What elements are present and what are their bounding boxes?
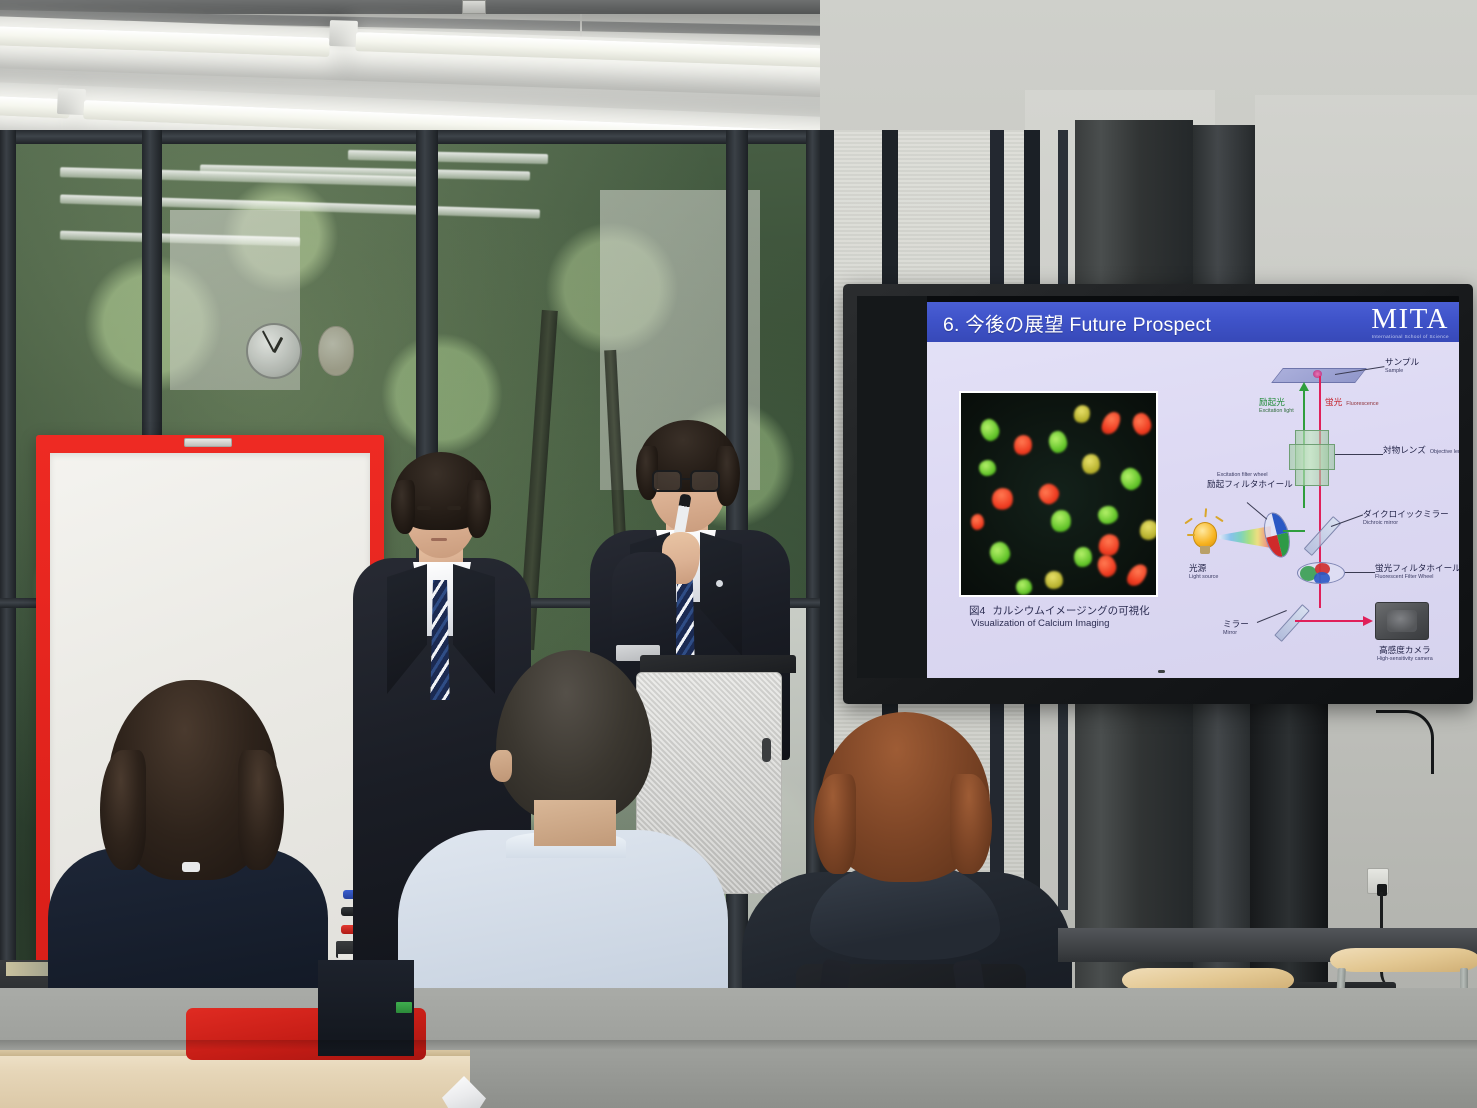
leader-mirror bbox=[1257, 610, 1287, 623]
audience-center-hair bbox=[496, 650, 652, 822]
presenter-right-glasses-right-lens bbox=[690, 470, 720, 492]
label-sample-jp: サンプル bbox=[1385, 358, 1419, 368]
micrograph-cell bbox=[1035, 480, 1062, 507]
mita-logo-wordmark: MITA bbox=[1371, 303, 1449, 335]
tube-mount-2 bbox=[57, 88, 86, 115]
micrograph-cell bbox=[1097, 505, 1118, 525]
micrograph-cell bbox=[1044, 570, 1064, 590]
display-screen: 6. 今後の展望 Future Prospect MITA Internatio… bbox=[857, 296, 1459, 678]
label-excitation-filter-wheel-en: Excitation filter wheel bbox=[1217, 472, 1293, 478]
micrograph-cell bbox=[977, 417, 1001, 444]
label-fluorescence-en: Fluorescence bbox=[1346, 401, 1378, 407]
label-dichroic-mirror: ダイクロイックミラー Dichroic mirror bbox=[1363, 510, 1449, 526]
mita-logo: MITA International School of Science bbox=[1371, 305, 1449, 340]
label-mirror: ミラー Mirror bbox=[1223, 620, 1249, 636]
label-fluorescence-jp: 蛍光 bbox=[1325, 398, 1342, 408]
label-objective-lens-jp: 対物レンズ bbox=[1383, 446, 1426, 456]
light-source-bulb-base-icon bbox=[1200, 546, 1210, 554]
label-camera-en: High-sensitivity camera bbox=[1377, 656, 1433, 662]
presenter-right-glasses-bridge bbox=[682, 478, 691, 480]
bulb-ray-3 bbox=[1204, 508, 1206, 517]
ceiling-drop-cable bbox=[1376, 710, 1434, 774]
light-source-bulb-icon bbox=[1193, 522, 1217, 548]
label-fluorescent-filter-wheel-en: Fluorescent Filter Wheel bbox=[1375, 574, 1459, 580]
flat-panel-display[interactable]: 6. 今後の展望 Future Prospect MITA Internatio… bbox=[843, 284, 1473, 704]
clock-minute-hand bbox=[262, 330, 275, 352]
audience-center-neck bbox=[534, 800, 616, 846]
bulb-ray-4 bbox=[1215, 516, 1223, 522]
slide-title: 6. 今後の展望 Future Prospect bbox=[943, 308, 1211, 337]
leader-objective bbox=[1335, 454, 1383, 455]
label-excitation-light: 励起光 Excitation light bbox=[1259, 398, 1294, 414]
display-power-led bbox=[1158, 670, 1165, 673]
micrograph-cell bbox=[1123, 560, 1150, 589]
label-excitation-light-jp: 励起光 bbox=[1259, 398, 1294, 408]
presentation-slide: 6. 今後の展望 Future Prospect MITA Internatio… bbox=[927, 302, 1459, 678]
audience-right-hair-right-side bbox=[950, 774, 992, 874]
audience-right-hair-left-side bbox=[814, 774, 856, 874]
micrograph-cell bbox=[1095, 553, 1118, 579]
label-fluorescence: 蛍光 Fluorescence bbox=[1325, 398, 1379, 408]
presenter-right-glasses-left-lens bbox=[652, 470, 682, 492]
fluorescence-beam-arrow-icon bbox=[1363, 616, 1373, 626]
micrograph-cell bbox=[1073, 546, 1092, 567]
presenter-left-eye-left bbox=[417, 506, 431, 510]
audience-center-ear-left bbox=[490, 750, 512, 782]
micrograph-cell bbox=[1071, 403, 1092, 425]
whiteboard-top-clip bbox=[184, 438, 232, 447]
micrograph-cell bbox=[988, 541, 1012, 567]
label-mirror-en: Mirror bbox=[1223, 630, 1249, 636]
micrograph-cell bbox=[971, 514, 985, 530]
presenter-left-hair-side-left bbox=[391, 480, 415, 534]
presenter-left-mouth bbox=[431, 538, 447, 541]
label-light-source-en: Light source bbox=[1189, 574, 1218, 580]
excitation-beam-arrow-icon bbox=[1299, 382, 1309, 391]
label-excitation-light-en: Excitation light bbox=[1259, 408, 1294, 414]
micrograph-canvas bbox=[961, 393, 1156, 595]
label-sample-en: Sample bbox=[1385, 368, 1419, 374]
micrograph-cell bbox=[1081, 453, 1101, 475]
micrograph-cell bbox=[1047, 430, 1067, 454]
slide-title-bar: 6. 今後の展望 Future Prospect MITA Internatio… bbox=[927, 302, 1459, 342]
camera-lens-icon bbox=[1387, 610, 1417, 632]
micrograph-cell bbox=[1098, 409, 1124, 438]
presenter-left-hair-side-right bbox=[467, 480, 491, 538]
micrograph-cell bbox=[979, 460, 997, 476]
tube-mount-1 bbox=[329, 20, 358, 47]
dichroic-mirror-icon bbox=[1304, 516, 1342, 556]
micrograph-cell bbox=[1138, 518, 1156, 543]
objective-lens-collar-icon bbox=[1289, 444, 1335, 470]
wall-clock bbox=[246, 323, 302, 379]
micrograph-cell bbox=[990, 485, 1017, 512]
label-mirror-jp: ミラー bbox=[1223, 620, 1249, 630]
audience-left-hair-left-lock bbox=[100, 750, 146, 870]
fluorescent-filter-wheel-icon bbox=[1297, 562, 1345, 584]
ffw-seg-blue bbox=[1314, 572, 1330, 584]
wall-plaque bbox=[318, 326, 354, 376]
bulb-ray-1 bbox=[1184, 518, 1192, 524]
figure-caption-jp: カルシウムイメージングの可視化 bbox=[992, 605, 1149, 618]
bulb-ray-2 bbox=[1187, 534, 1195, 536]
micrograph-frame bbox=[959, 391, 1158, 597]
label-objective-lens-en: Objective lens bbox=[1430, 449, 1459, 455]
figure-number: 図4 bbox=[969, 605, 985, 618]
figure-caption-en: Visualization of Calcium Imaging bbox=[971, 618, 1219, 630]
ceiling-junction-box bbox=[462, 0, 486, 14]
table-foreground bbox=[0, 1052, 470, 1108]
label-fluorescent-filter-wheel: 蛍光フィルタホイール Fluorescent Filter Wheel bbox=[1375, 564, 1459, 580]
label-dichroic-mirror-en: Dichroic mirror bbox=[1363, 520, 1449, 526]
label-dichroic-mirror-jp: ダイクロイックミラー bbox=[1363, 510, 1449, 520]
leader-fluorescent-filter-wheel bbox=[1345, 572, 1375, 573]
label-excitation-filter-wheel-jp: 励起フィルタホイール bbox=[1207, 480, 1293, 490]
foreground-shadow bbox=[0, 1040, 1477, 1050]
micrograph-cell bbox=[1015, 578, 1032, 595]
label-fluorescent-filter-wheel-jp: 蛍光フィルタホイール bbox=[1375, 564, 1459, 574]
exit-sign-icon bbox=[396, 1002, 412, 1013]
micrograph-cell bbox=[1049, 509, 1072, 534]
micrograph-cell bbox=[1130, 411, 1152, 437]
label-objective-lens: 対物レンズ Objective lens bbox=[1383, 446, 1459, 456]
leader-excitation-filter-wheel bbox=[1247, 502, 1268, 519]
presenter-left-eye-right bbox=[447, 506, 461, 510]
label-camera-jp: 高感度カメラ bbox=[1377, 646, 1433, 656]
screen-letterbox-left bbox=[857, 296, 927, 678]
micrograph-cell bbox=[1117, 465, 1143, 493]
fluorescence-microscope-diagram: サンプル Sample 励起光 Excitation light 蛍光 bbox=[1185, 354, 1459, 676]
fluorescence-beam-horizontal bbox=[1295, 620, 1365, 622]
figure-caption: 図4 カルシウムイメージングの可視化 Visualization of Calc… bbox=[969, 605, 1219, 631]
audience-left-hair-clip bbox=[182, 862, 200, 872]
presenter-right-lapel-pin bbox=[716, 580, 723, 587]
excitation-beam-horizontal bbox=[1283, 530, 1305, 532]
label-camera: 高感度カメラ High-sensitivity camera bbox=[1377, 646, 1433, 662]
window-mullion-1 bbox=[0, 130, 16, 1010]
label-light-source: 光源 Light source bbox=[1189, 564, 1218, 580]
chair-wood-2[interactable] bbox=[1330, 948, 1477, 972]
mirror-icon bbox=[1274, 604, 1310, 642]
label-sample: サンプル Sample bbox=[1385, 358, 1419, 374]
micrograph-cell bbox=[1012, 434, 1033, 457]
audience-left-hair-right-lock bbox=[238, 750, 284, 870]
mita-logo-subtitle: International School of Science bbox=[1371, 335, 1449, 340]
photo-scene: 6. 今後の展望 Future Prospect MITA Internatio… bbox=[0, 0, 1477, 1108]
label-excitation-filter-wheel: Excitation filter wheel 励起フィルタホイール bbox=[1207, 472, 1293, 490]
label-light-source-jp: 光源 bbox=[1189, 564, 1218, 574]
